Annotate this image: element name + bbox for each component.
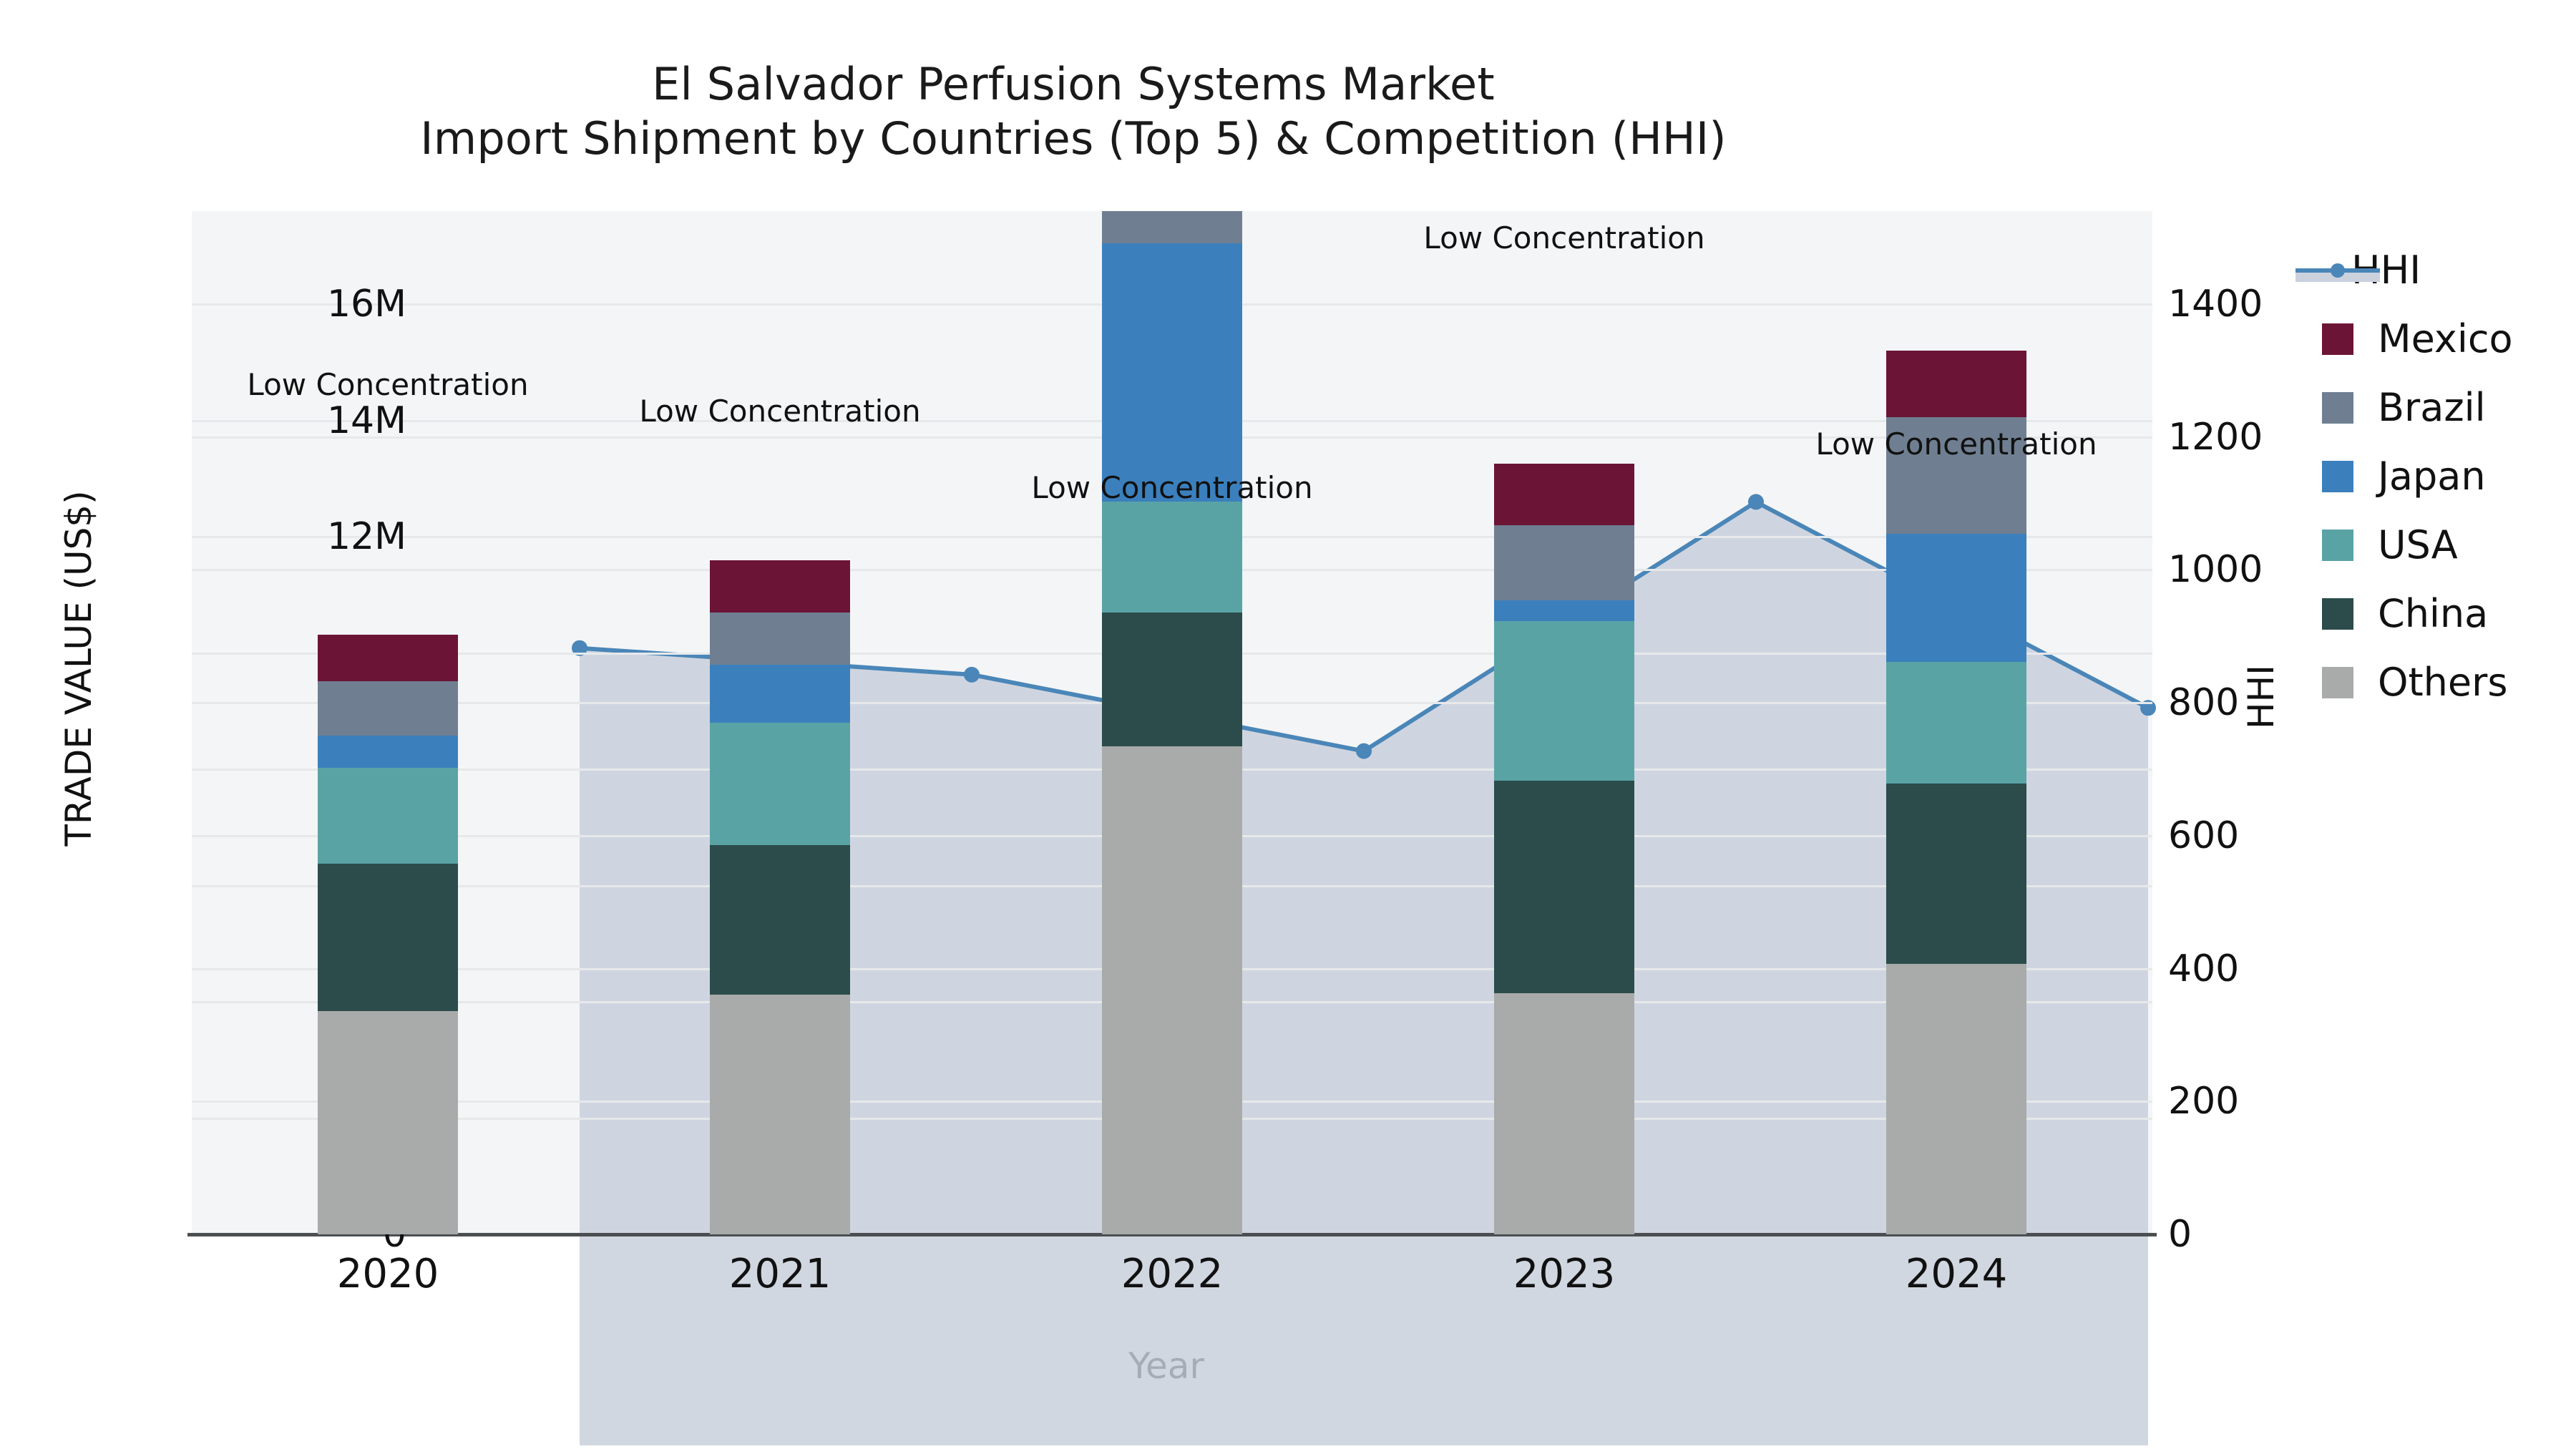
- secondary-y-axis-tick-label: 600: [2168, 814, 2411, 857]
- y-axis-tick-label: 16M: [120, 283, 406, 326]
- bar-segment[interactable]: [1494, 464, 1634, 525]
- y-axis-tick-label: 12M: [120, 515, 406, 558]
- chart-title: El Salvador Perfusion Systems Market Imp…: [0, 57, 2147, 165]
- legend-item-usa[interactable]: USA: [2322, 511, 2565, 580]
- bar-segment[interactable]: [1102, 211, 1242, 243]
- legend-color-swatch: [2322, 667, 2353, 698]
- legend-item-label: Others: [2378, 663, 2507, 702]
- x-axis-tick-label: 2023: [1414, 1251, 1714, 1297]
- legend-item-label: Japan: [2378, 457, 2486, 496]
- x-axis-tick-label: 2020: [238, 1251, 538, 1297]
- bar-segment[interactable]: [318, 864, 458, 1011]
- x-axis-tick-label: 2024: [1806, 1251, 2107, 1297]
- bar-segment[interactable]: [1886, 964, 2026, 1234]
- bar-segment[interactable]: [1494, 993, 1634, 1234]
- x-axis-tick-label: 2021: [630, 1251, 930, 1297]
- bar-segment[interactable]: [318, 681, 458, 736]
- hhi-data-point[interactable]: [1748, 494, 1764, 509]
- bar-segment[interactable]: [1886, 662, 2026, 784]
- chart-title-line2: Import Shipment by Countries (Top 5) & C…: [0, 112, 2147, 166]
- bar-segment[interactable]: [710, 995, 850, 1234]
- legend-item-brazil[interactable]: Brazil: [2322, 374, 2565, 442]
- bar-segment[interactable]: [710, 845, 850, 995]
- bar-segment[interactable]: [1886, 351, 2026, 417]
- bar-segment[interactable]: [318, 635, 458, 681]
- bar-segment[interactable]: [318, 768, 458, 864]
- legend-item-mexico[interactable]: Mexico: [2322, 305, 2565, 374]
- legend-item-hhi[interactable]: HHI: [2322, 236, 2565, 305]
- legend-item-label: USA: [2378, 526, 2458, 565]
- bar-segment[interactable]: [710, 723, 850, 845]
- bar-segment[interactable]: [1886, 534, 2026, 662]
- secondary-y-axis-tick-label: 0: [2168, 1213, 2411, 1256]
- annotation-label: Low Concentration: [247, 367, 528, 402]
- hhi-data-point[interactable]: [964, 667, 980, 683]
- bar-segment[interactable]: [1102, 613, 1242, 746]
- legend-color-swatch: [2322, 530, 2353, 561]
- legend-color-swatch: [2322, 392, 2353, 424]
- legend-item-label: China: [2378, 595, 2488, 633]
- chart-title-line1: El Salvador Perfusion Systems Market: [652, 58, 1495, 110]
- bar-segment[interactable]: [1102, 746, 1242, 1235]
- bar-segment[interactable]: [710, 613, 850, 665]
- annotation-label: Low Concentration: [1815, 426, 2097, 462]
- legend-item-japan[interactable]: Japan: [2322, 442, 2565, 511]
- hhi-data-point[interactable]: [1356, 743, 1372, 759]
- bar-segment[interactable]: [1494, 781, 1634, 993]
- bar-segment[interactable]: [318, 736, 458, 768]
- legend-line-dot: [2331, 263, 2345, 278]
- x-axis-tick-label: 2022: [1022, 1251, 1322, 1297]
- bar-segment[interactable]: [710, 665, 850, 723]
- legend: HHIMexicoBrazilJapanUSAChinaOthers: [2322, 236, 2565, 717]
- legend-color-swatch: [2322, 323, 2353, 355]
- annotation-label: Low Concentration: [1423, 220, 1704, 255]
- legend-item-others[interactable]: Others: [2322, 648, 2565, 717]
- legend-color-swatch: [2322, 598, 2353, 630]
- y-axis-label: TRADE VALUE (US$): [58, 418, 99, 919]
- chart-root: El Salvador Perfusion Systems Market Imp…: [0, 0, 2576, 1449]
- annotation-label: Low Concentration: [1031, 470, 1312, 505]
- legend-line-marker: [2296, 255, 2380, 286]
- bar-segment[interactable]: [1102, 502, 1242, 612]
- secondary-y-axis-tick-label: 200: [2168, 1080, 2411, 1123]
- bar-segment[interactable]: [1886, 784, 2026, 964]
- bar-segment[interactable]: [1494, 525, 1634, 601]
- legend-item-label: Brazil: [2378, 389, 2486, 427]
- legend-item-label: Mexico: [2378, 320, 2513, 358]
- legend-item-china[interactable]: China: [2322, 580, 2565, 648]
- legend-color-swatch: [2322, 461, 2353, 492]
- secondary-y-axis-tick-label: 400: [2168, 947, 2411, 990]
- bar-segment[interactable]: [1494, 621, 1634, 781]
- bar-segment[interactable]: [1102, 243, 1242, 502]
- y-axis-tick-label: 14M: [120, 399, 406, 442]
- bar-segment[interactable]: [710, 560, 850, 613]
- bar-segment[interactable]: [1494, 600, 1634, 620]
- bar-segment[interactable]: [318, 1011, 458, 1234]
- annotation-label: Low Concentration: [639, 394, 920, 429]
